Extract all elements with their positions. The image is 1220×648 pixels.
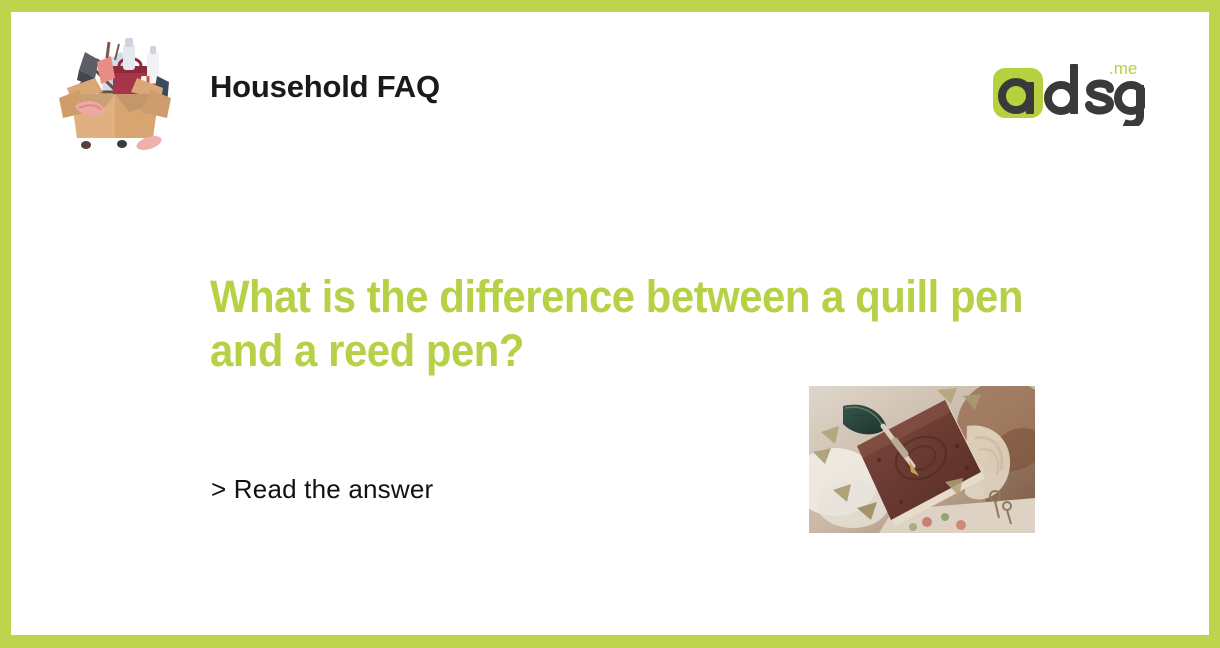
household-box-icon bbox=[49, 30, 181, 152]
card-header: Household FAQ bbox=[11, 12, 1209, 162]
page-title: Household FAQ bbox=[210, 69, 440, 105]
adsy-logo[interactable]: .me bbox=[993, 58, 1145, 126]
card-canvas: Household FAQ bbox=[11, 12, 1209, 635]
quill-and-journal-photo bbox=[809, 386, 1035, 533]
promo-card: Household FAQ bbox=[0, 0, 1220, 648]
question-headline: What is the difference between a quill p… bbox=[210, 270, 1047, 378]
read-the-answer-link[interactable]: > Read the answer bbox=[211, 474, 433, 505]
logo-tld-text: .me bbox=[1109, 59, 1137, 78]
